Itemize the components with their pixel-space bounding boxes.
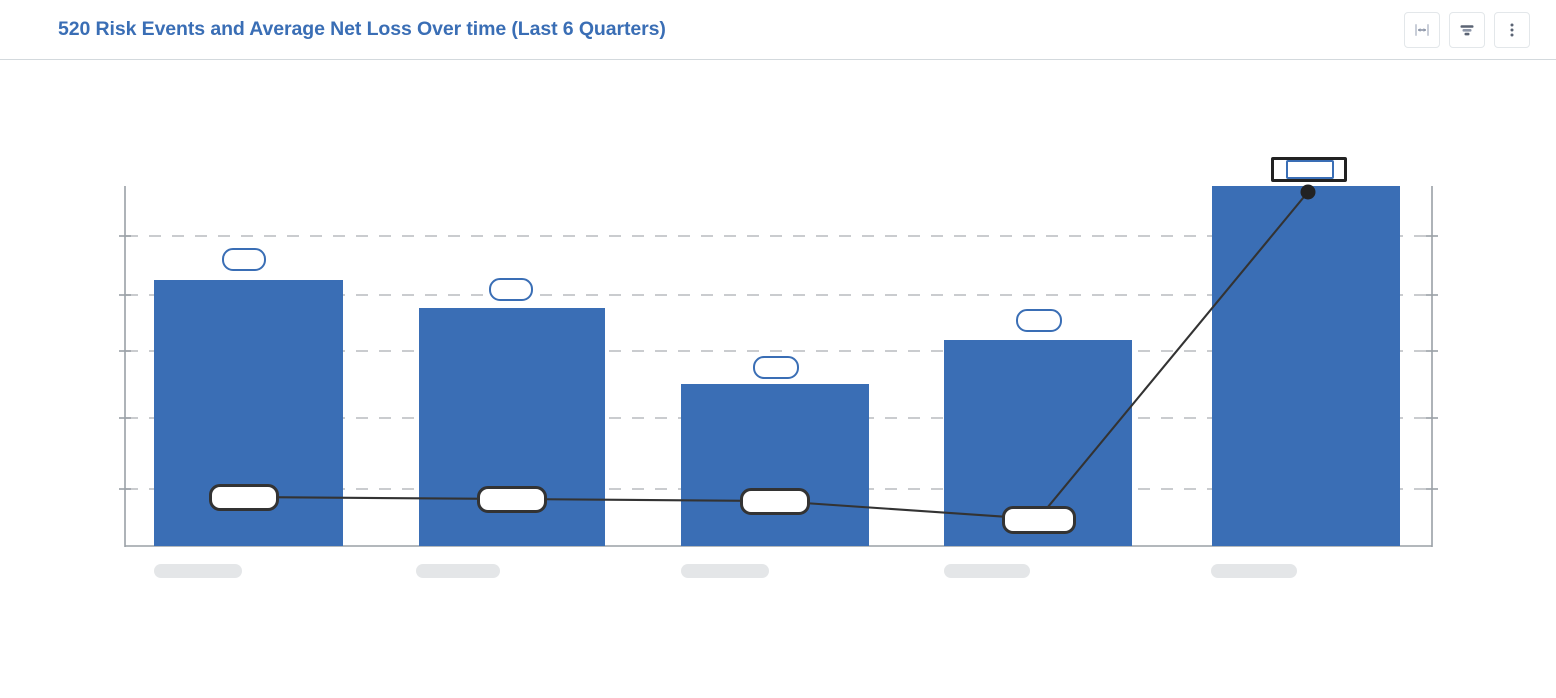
x-axis-label-5 [1211, 564, 1297, 578]
line-value-chip-2[interactable] [477, 486, 547, 513]
bar-value-chip-4[interactable] [1016, 309, 1062, 332]
bar-3 [681, 384, 869, 546]
page-title: 520 Risk Events and Average Net Loss Ove… [58, 18, 666, 41]
header-actions [1404, 12, 1530, 48]
y-axis-left [119, 186, 131, 547]
x-axis-label-1 [154, 564, 242, 578]
y-axis-right [1426, 186, 1438, 547]
filter-button[interactable] [1449, 12, 1485, 48]
chart-area [0, 60, 1556, 698]
fit-width-icon [1412, 20, 1432, 40]
more-options-button[interactable] [1494, 12, 1530, 48]
bar-value-chip-1[interactable] [222, 248, 266, 271]
x-axis-label-3 [681, 564, 769, 578]
bar-value-chip-5[interactable] [1286, 160, 1334, 179]
more-vertical-icon [1502, 20, 1522, 40]
line-value-chip-3[interactable] [740, 488, 810, 515]
fit-width-button[interactable] [1404, 12, 1440, 48]
bar-value-chip-3[interactable] [753, 356, 799, 379]
chart-svg [0, 60, 1556, 698]
plot-canvas [0, 60, 1556, 698]
widget-header: 520 Risk Events and Average Net Loss Ove… [0, 0, 1556, 60]
x-axis-label-4 [944, 564, 1030, 578]
bar-value-chip-2[interactable] [489, 278, 533, 301]
line-marker-5 [1301, 185, 1316, 200]
filter-icon [1457, 20, 1477, 40]
bar-5 [1212, 186, 1400, 546]
line-value-chip-4[interactable] [1002, 506, 1076, 534]
chart-widget: 520 Risk Events and Average Net Loss Ove… [0, 0, 1556, 698]
x-axis-label-2 [416, 564, 500, 578]
line-value-chip-1[interactable] [209, 484, 279, 511]
